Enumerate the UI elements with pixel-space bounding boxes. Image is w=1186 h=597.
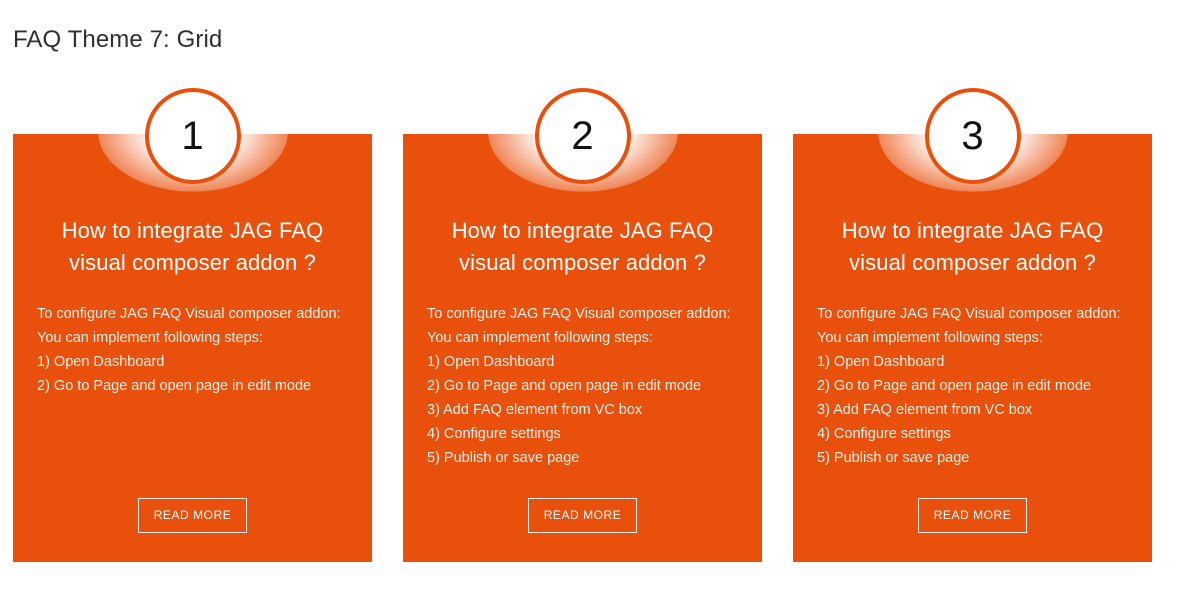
faq-card-footer: READ MORE [37,498,348,562]
faq-answer-line: 3) Add FAQ element from VC box [817,398,1128,422]
faq-answer-line: 4) Configure settings [427,422,738,446]
faq-answer-line: 5) Publish or save page [427,446,738,470]
faq-card-content: How to integrate JAG FAQ visual composer… [403,134,762,562]
faq-answer-line: 2) Go to Page and open page in edit mode [817,374,1128,398]
faq-number-badge: 2 [535,88,631,184]
faq-answer-line: 4) Configure settings [817,422,1128,446]
read-more-button[interactable]: READ MORE [528,498,638,533]
faq-number-badge-label: 3 [961,116,983,156]
faq-card-footer: READ MORE [817,498,1128,562]
faq-answer-line: 3) Add FAQ element from VC box [427,398,738,422]
faq-answer: To configure JAG FAQ Visual composer add… [427,279,738,470]
faq-card-panel: How to integrate JAG FAQ visual composer… [793,134,1152,562]
faq-answer-line: 2) Go to Page and open page in edit mode [37,374,348,398]
faq-number-badge: 3 [925,88,1021,184]
faq-number-badge-label: 1 [181,116,203,156]
faq-answer-line: You can implement following steps: [817,326,1128,350]
faq-card-panel: How to integrate JAG FAQ visual composer… [13,134,372,562]
faq-card: How to integrate JAG FAQ visual composer… [13,88,372,562]
faq-answer-line: You can implement following steps: [427,326,738,350]
faq-card-content: How to integrate JAG FAQ visual composer… [793,134,1152,562]
faq-answer-line: 1) Open Dashboard [817,350,1128,374]
faq-answer-line: 5) Publish or save page [817,446,1128,470]
page-title: FAQ Theme 7: Grid [13,25,222,55]
faq-card-footer: READ MORE [427,498,738,562]
faq-card: How to integrate JAG FAQ visual composer… [403,88,762,562]
faq-number-badge: 1 [145,88,241,184]
faq-card-grid: How to integrate JAG FAQ visual composer… [13,88,1152,562]
faq-answer-line: You can implement following steps: [37,326,348,350]
read-more-button[interactable]: READ MORE [918,498,1028,533]
faq-answer: To configure JAG FAQ Visual composer add… [817,279,1128,470]
faq-card: How to integrate JAG FAQ visual composer… [793,88,1152,562]
faq-answer-line: 1) Open Dashboard [427,350,738,374]
faq-answer-line: To configure JAG FAQ Visual composer add… [427,302,738,326]
faq-answer-line: 1) Open Dashboard [37,350,348,374]
faq-card-panel: How to integrate JAG FAQ visual composer… [403,134,762,562]
faq-answer: To configure JAG FAQ Visual composer add… [37,279,348,398]
faq-card-content: How to integrate JAG FAQ visual composer… [13,134,372,562]
faq-answer-line: 2) Go to Page and open page in edit mode [427,374,738,398]
faq-number-badge-label: 2 [571,116,593,156]
faq-answer-line: To configure JAG FAQ Visual composer add… [817,302,1128,326]
read-more-button[interactable]: READ MORE [138,498,248,533]
faq-answer-line: To configure JAG FAQ Visual composer add… [37,302,348,326]
